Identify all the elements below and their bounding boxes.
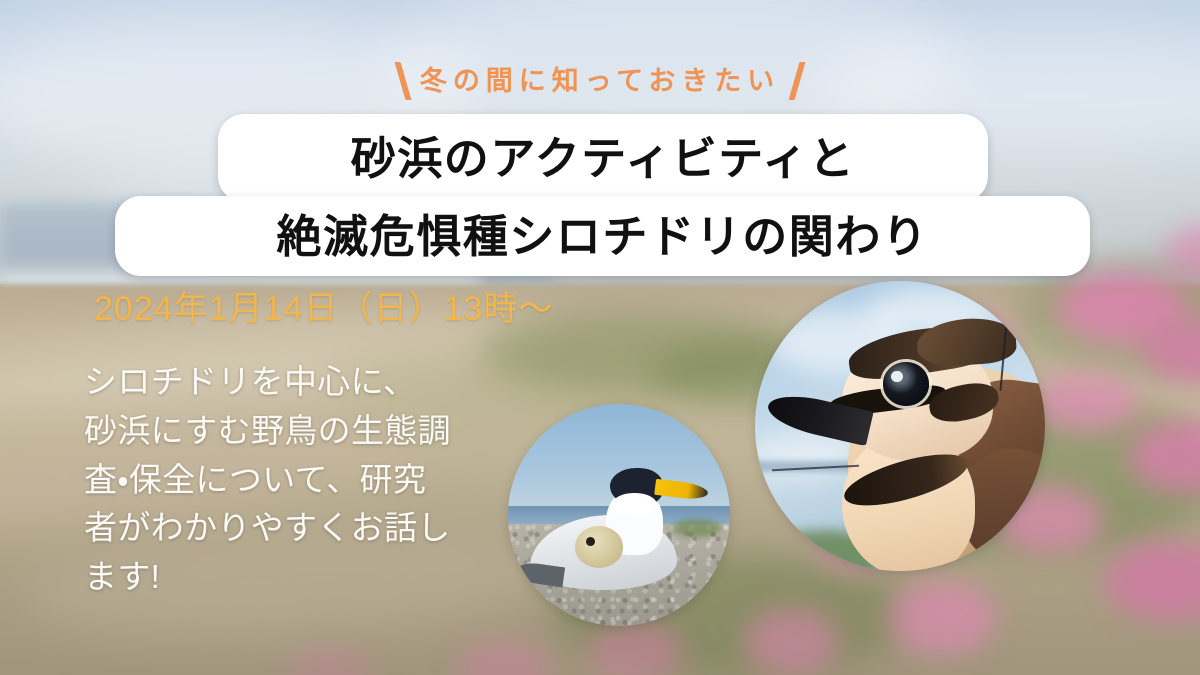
kentish-plover-photo [755, 281, 1045, 571]
title-plate-line2: 絶滅危惧種シロチドリの関わり [115, 196, 1090, 276]
left-slash-icon [394, 62, 411, 100]
tern-chick-eye [586, 537, 595, 546]
right-slash-icon [789, 62, 806, 100]
event-date-time: 2024年1月14日（日）13時〜 [94, 289, 554, 330]
eyebrow-banner: 冬の間に知っておきたい [0, 62, 1200, 100]
tern-cheek [612, 493, 656, 517]
description-line: シロチドリを中心に、 [84, 358, 514, 407]
little-tern-photo [508, 404, 730, 626]
description-text: シロチドリを中心に、 砂浜にすむ野鳥の生態調 査・保全について、研究 者がわかり… [84, 358, 514, 602]
description-line: ます! [84, 553, 514, 602]
description-line: 砂浜にすむ野鳥の生態調 [84, 407, 514, 456]
description-line: 者がわかりやすくお話し [84, 504, 514, 553]
plover-eye [883, 362, 929, 406]
description-line: 査・保全について、研究 [84, 456, 514, 505]
title-line1-text: 砂浜のアクティビティと [218, 136, 988, 181]
poster-canvas: 冬の間に知っておきたい 砂浜のアクティビティと 絶滅危惧種シロチドリの関わり 2… [0, 0, 1200, 675]
title-plate-line1: 砂浜のアクティビティと [218, 114, 988, 202]
title-line2-text: 絶滅危惧種シロチドリの関わり [115, 214, 1090, 259]
eyebrow-text: 冬の間に知っておきたい [412, 68, 788, 95]
